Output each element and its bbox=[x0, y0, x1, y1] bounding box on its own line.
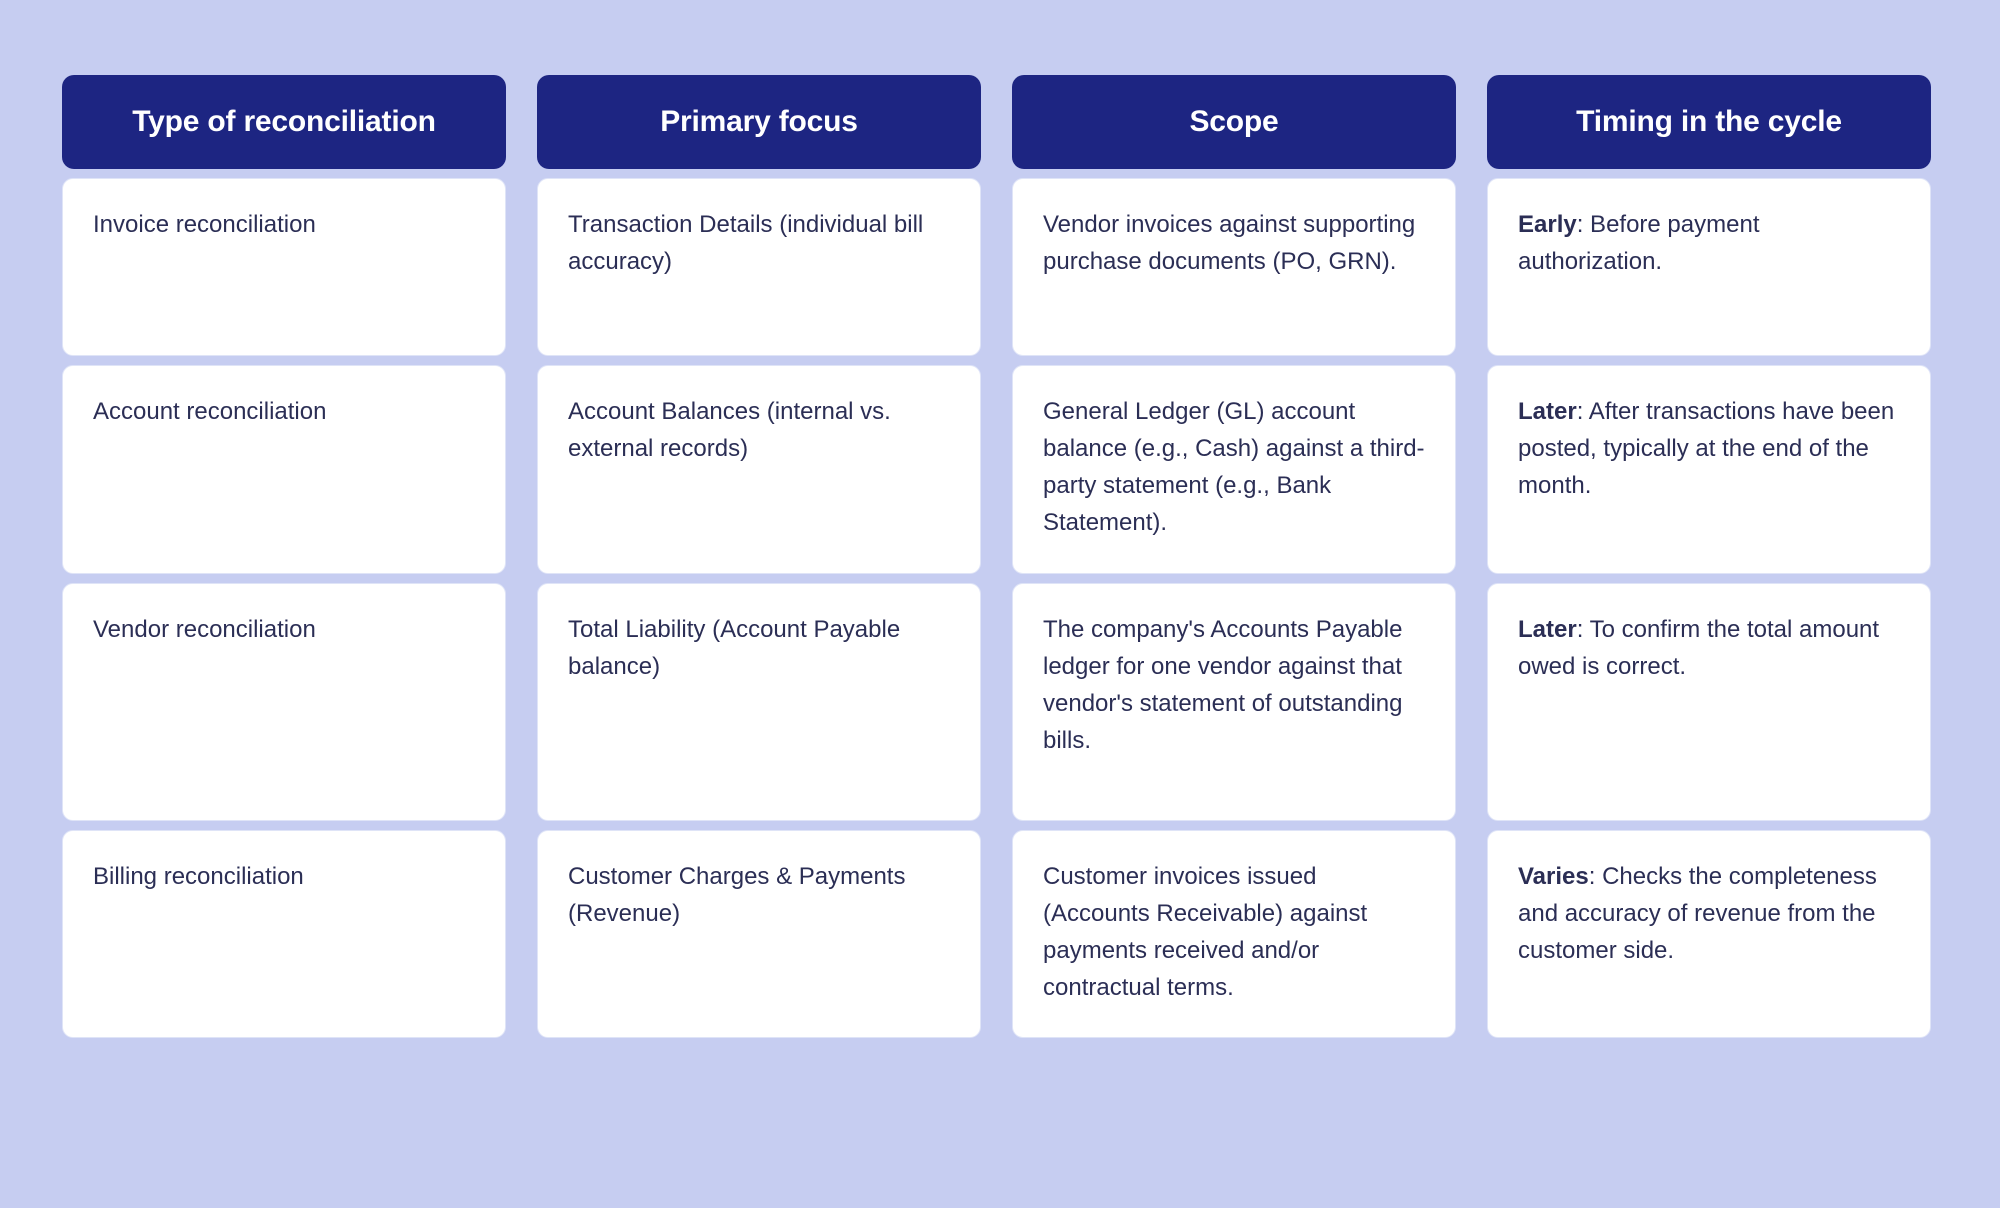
table-cell-type: Account reconciliation bbox=[62, 365, 506, 574]
cell-text: Total Liability (Account Payable balance… bbox=[568, 612, 950, 686]
table-cell-scope: General Ledger (GL) account balance (e.g… bbox=[1012, 365, 1456, 574]
timing-lead: Varies bbox=[1518, 863, 1589, 890]
cell-text: Customer Charges & Payments (Revenue) bbox=[568, 859, 950, 933]
column-header-label: Primary focus bbox=[660, 105, 857, 139]
table-cell-scope: Vendor invoices against supporting purch… bbox=[1012, 178, 1456, 356]
table-cell-timing: Later: To confirm the total amount owed … bbox=[1487, 583, 1931, 821]
table-cell-type: Invoice reconciliation bbox=[62, 178, 506, 356]
table-cell-type: Vendor reconciliation bbox=[62, 583, 506, 821]
table-cell-type: Billing reconciliation bbox=[62, 830, 506, 1038]
table-cell-timing: Later: After transactions have been post… bbox=[1487, 365, 1931, 574]
cell-text: Transaction Details (individual bill acc… bbox=[568, 207, 950, 281]
cell-text: Later: To confirm the total amount owed … bbox=[1518, 612, 1900, 686]
table-cell-scope: Customer invoices issued (Accounts Recei… bbox=[1012, 830, 1456, 1038]
table-grid: Type of reconciliation Primary focus Sco… bbox=[62, 75, 1938, 1038]
column-header-label: Timing in the cycle bbox=[1576, 105, 1842, 139]
table-cell-focus: Customer Charges & Payments (Revenue) bbox=[537, 830, 981, 1038]
timing-lead: Later bbox=[1518, 616, 1577, 643]
cell-text: General Ledger (GL) account balance (e.g… bbox=[1043, 394, 1425, 542]
table-cell-focus: Transaction Details (individual bill acc… bbox=[537, 178, 981, 356]
timing-lead: Early bbox=[1518, 211, 1577, 238]
cell-text: Varies: Checks the completeness and accu… bbox=[1518, 859, 1900, 970]
column-header-scope: Scope bbox=[1012, 75, 1456, 169]
cell-text: Account Balances (internal vs. external … bbox=[568, 394, 950, 468]
table-cell-focus: Total Liability (Account Payable balance… bbox=[537, 583, 981, 821]
column-header-type-of-reconciliation: Type of reconciliation bbox=[62, 75, 506, 169]
table-cell-timing: Early: Before payment authorization. bbox=[1487, 178, 1931, 356]
column-header-label: Type of reconciliation bbox=[132, 105, 435, 139]
cell-text: Billing reconciliation bbox=[93, 859, 475, 896]
table-cell-timing: Varies: Checks the completeness and accu… bbox=[1487, 830, 1931, 1038]
cell-text: Vendor invoices against supporting purch… bbox=[1043, 207, 1425, 281]
table-cell-scope: The company's Accounts Payable ledger fo… bbox=[1012, 583, 1456, 821]
table-cell-focus: Account Balances (internal vs. external … bbox=[537, 365, 981, 574]
cell-text: Vendor reconciliation bbox=[93, 612, 475, 649]
comparison-table: Type of reconciliation Primary focus Sco… bbox=[0, 0, 2000, 1208]
cell-text: Later: After transactions have been post… bbox=[1518, 394, 1900, 505]
cell-text: Early: Before payment authorization. bbox=[1518, 207, 1900, 281]
cell-text: Account reconciliation bbox=[93, 394, 475, 431]
cell-text: Invoice reconciliation bbox=[93, 207, 475, 244]
column-header-primary-focus: Primary focus bbox=[537, 75, 981, 169]
cell-text: Customer invoices issued (Accounts Recei… bbox=[1043, 859, 1425, 1007]
column-header-label: Scope bbox=[1189, 105, 1278, 139]
column-header-timing-in-the-cycle: Timing in the cycle bbox=[1487, 75, 1931, 169]
cell-text: The company's Accounts Payable ledger fo… bbox=[1043, 612, 1425, 760]
timing-lead: Later bbox=[1518, 398, 1577, 425]
